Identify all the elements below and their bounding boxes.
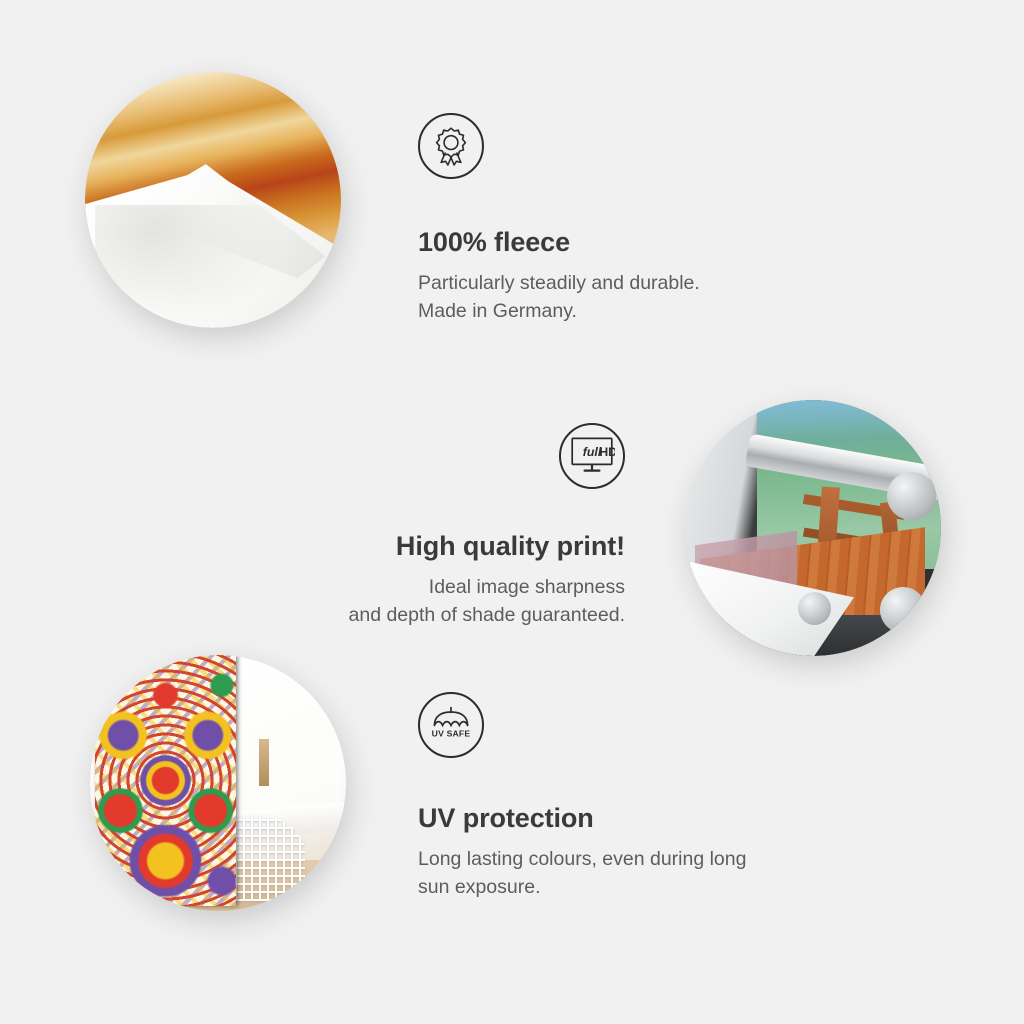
feature-description-line: sun exposure. (418, 874, 746, 902)
feature-description-line: and depth of shade guaranteed. (349, 602, 626, 630)
feature-description-line: Ideal image sharpness (349, 574, 626, 602)
roller-end-cap (880, 587, 926, 633)
fleece-shadow-overlay (95, 205, 290, 328)
feature-title: High quality print! (349, 531, 626, 562)
uv-safe-umbrella-icon: UV SAFE (418, 692, 484, 758)
feature-description: Particularly steadily and durable. Made … (418, 270, 700, 325)
uv-safe-label: UV SAFE (432, 729, 471, 739)
candle-holder (259, 739, 269, 785)
fullhd-monitor-icon: full HD (559, 423, 625, 489)
machine-knob (798, 592, 831, 625)
peeling-fleece-wallpaper-photo (85, 72, 341, 328)
feature-block-uv: UV SAFE UV protection Long lasting colou… (418, 692, 746, 901)
fullhd-label-bold: HD (599, 445, 615, 459)
feature-infographic: 100% fleece Particularly steadily and du… (0, 0, 1024, 1024)
feature-title: 100% fleece (418, 227, 700, 258)
feature-description-line: Made in Germany. (418, 298, 700, 326)
printing-machine-photo (685, 400, 941, 656)
roller-end-cap (887, 472, 936, 521)
feature-description: Ideal image sharpness and depth of shade… (349, 574, 626, 629)
feature-block-fleece: 100% fleece Particularly steadily and du… (418, 113, 700, 325)
feature-block-print: full HD High quality print! Ideal image … (349, 423, 626, 629)
mandala-wallpaper-interior-photo (90, 655, 346, 911)
feature-title: UV protection (418, 803, 746, 834)
feature-description-line: Particularly steadily and durable. (418, 270, 700, 298)
feature-description-line: Long lasting colours, even during long (418, 846, 746, 874)
mandala-wallpaper-panel (95, 655, 236, 906)
award-rosette-icon (418, 113, 484, 179)
feature-description: Long lasting colours, even during long s… (418, 846, 746, 901)
